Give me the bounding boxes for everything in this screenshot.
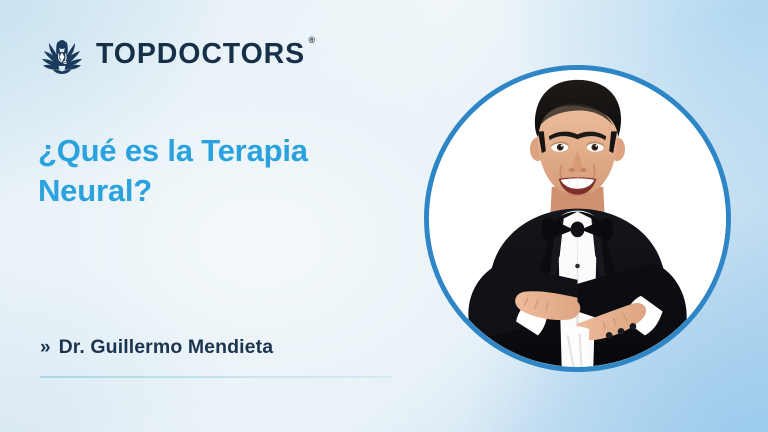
byline-block: » Dr. Guillermo Mendieta xyxy=(40,336,396,378)
registered-trademark-icon: ® xyxy=(309,36,317,45)
byline-divider xyxy=(40,376,393,378)
brand-wordmark: TOPDOCTORS ® xyxy=(96,40,305,69)
brand-wordmark-text: TOPDOCTORS xyxy=(96,38,305,70)
doctor-portrait-photo xyxy=(429,70,726,367)
double-chevron-right-icon: » xyxy=(40,337,50,359)
page-title: ¿Qué es la Terapia Neural? xyxy=(38,131,388,212)
author-name: Dr. Guillermo Mendieta xyxy=(59,336,274,359)
brand-logo[interactable]: TOPDOCTORS ® xyxy=(38,31,305,77)
byline: » Dr. Guillermo Mendieta xyxy=(40,336,396,359)
doctor-portrait xyxy=(424,65,731,372)
laurel-wreath-doctor-icon xyxy=(38,31,86,77)
promo-slide: TOPDOCTORS ® ¿Qué es la Terapia Neural? … xyxy=(0,0,768,432)
